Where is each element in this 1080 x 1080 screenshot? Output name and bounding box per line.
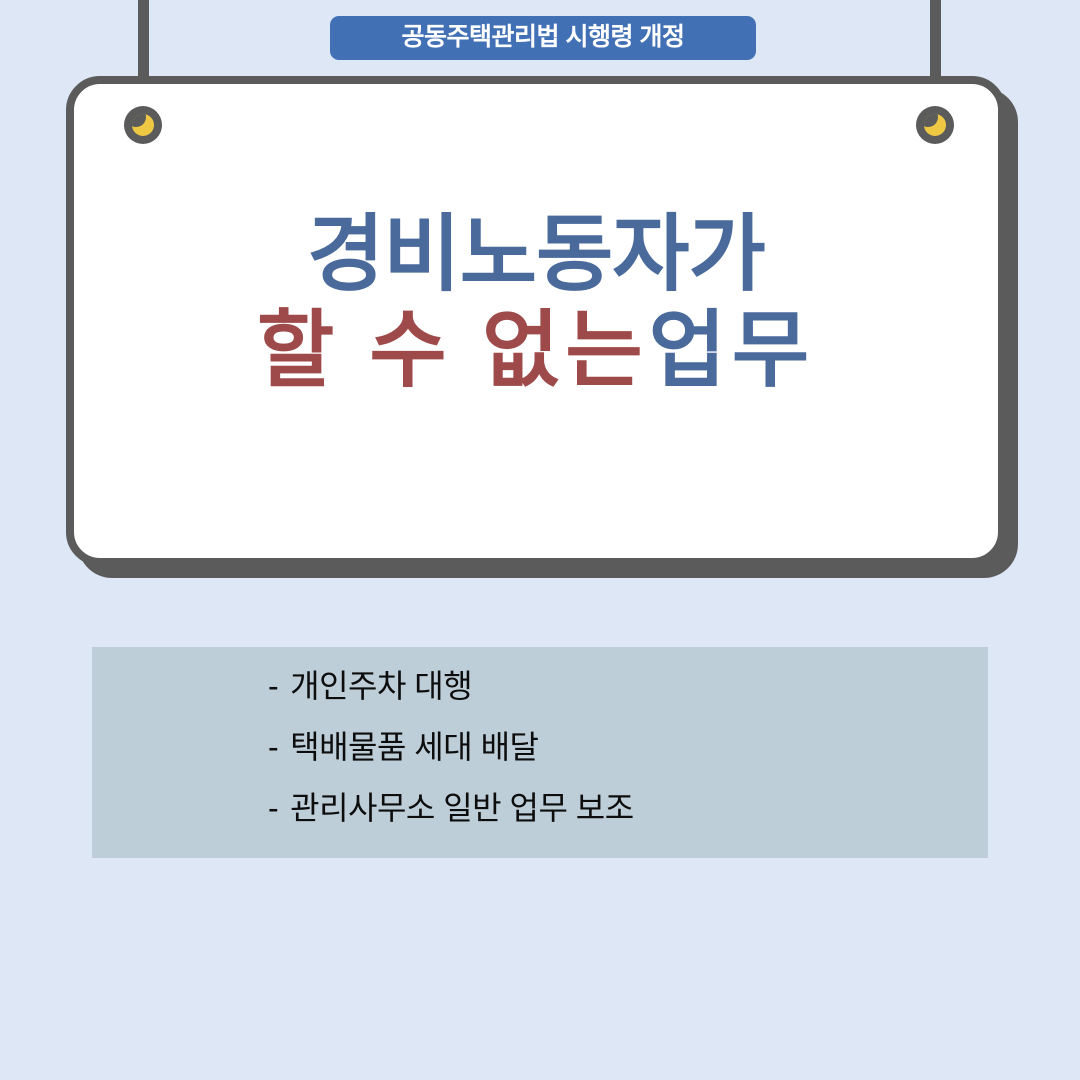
- list-item-dash: -: [268, 730, 278, 765]
- list-item-label: 개인주차 대행: [290, 669, 472, 704]
- header-badge-label: 공동주택관리법 시행령 개정: [402, 25, 685, 50]
- eyelet-ring-left-hole: [132, 114, 154, 136]
- sign-board: 경비노동자가 할 수 없는업무: [66, 76, 1006, 566]
- list-item-dash: -: [268, 669, 278, 704]
- list-item-dash: -: [268, 791, 278, 826]
- list-item-label: 택배물품 세대 배달: [290, 730, 538, 765]
- headline-group: 경비노동자가 할 수 없는업무: [74, 212, 998, 392]
- list-item: - 개인주차 대행: [268, 669, 988, 704]
- header-badge: 공동주택관리법 시행령 개정: [330, 16, 756, 60]
- headline-segment-red: 할 수 없는: [257, 303, 649, 397]
- headline-segment-blue: 업무: [649, 303, 816, 397]
- headline-line-1: 경비노동자가: [74, 212, 998, 296]
- eyelet-ring-right-hole: [924, 114, 946, 136]
- list-item-label: 관리사무소 일반 업무 보조: [290, 791, 634, 826]
- eyelet-ring-left-icon: [124, 106, 162, 144]
- eyelet-ring-right-icon: [916, 106, 954, 144]
- list-item: - 관리사무소 일반 업무 보조: [268, 791, 988, 826]
- list-item: - 택배물품 세대 배달: [268, 730, 988, 765]
- infographic-canvas: 공동주택관리법 시행령 개정 경비노동자가 할 수 없는업무 - 개인주차 대행…: [0, 0, 1080, 1080]
- headline-line-2: 할 수 없는업무: [74, 308, 998, 392]
- prohibited-tasks-panel: - 개인주차 대행 - 택배물품 세대 배달 - 관리사무소 일반 업무 보조: [92, 647, 988, 858]
